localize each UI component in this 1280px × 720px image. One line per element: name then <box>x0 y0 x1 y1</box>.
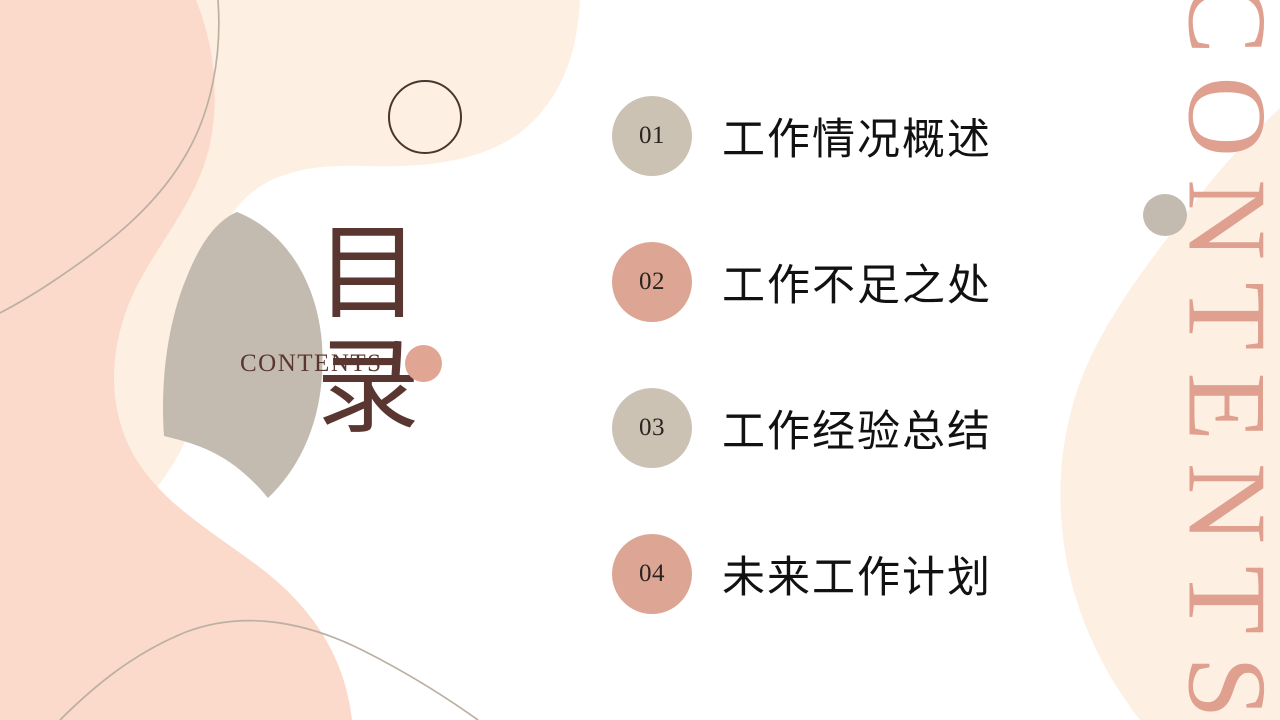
toc-number-04: 04 <box>639 560 665 588</box>
toc-list: 01 工作情况概述 02 工作不足之处 03 工作经验总结 04 未来工作计划 <box>612 96 992 614</box>
toc-number-badge-01: 01 <box>612 96 692 176</box>
page-title: 目 录 <box>268 222 468 442</box>
slide-root: CONTENTS 目 录 CONTENTS 01 工作情况概述 02 工作不足之… <box>0 0 1280 720</box>
toc-label-04: 未来工作计划 <box>722 543 992 605</box>
thin-curve-lower <box>60 621 478 720</box>
toc-item-01[interactable]: 01 工作情况概述 <box>612 96 992 176</box>
toc-label-02: 工作不足之处 <box>722 251 992 313</box>
toc-number-badge-04: 04 <box>612 534 692 614</box>
title-subtitle: CONTENTS <box>240 350 383 378</box>
toc-item-04[interactable]: 04 未来工作计划 <box>612 534 992 614</box>
thin-curve-upper <box>0 0 219 316</box>
side-contents-text: CONTENTS <box>1170 0 1280 720</box>
pink-dot-decor <box>405 345 442 382</box>
toc-label-03: 工作经验总结 <box>722 397 992 459</box>
toc-item-02[interactable]: 02 工作不足之处 <box>612 242 992 322</box>
cream-blob-right <box>1060 108 1280 720</box>
side-contents-watermark: CONTENTS <box>1166 0 1280 720</box>
taupe-dot-decor <box>1143 194 1187 236</box>
toc-number-01: 01 <box>639 122 665 150</box>
toc-number-02: 02 <box>639 268 665 296</box>
title-char-top: 目 <box>268 222 468 328</box>
outline-circle-decor <box>389 81 461 153</box>
toc-item-03[interactable]: 03 工作经验总结 <box>612 388 992 468</box>
toc-number-03: 03 <box>639 414 665 442</box>
title-subtitle-row: CONTENTS <box>240 345 442 382</box>
toc-number-badge-02: 02 <box>612 242 692 322</box>
toc-label-01: 工作情况概述 <box>722 105 992 167</box>
toc-number-badge-03: 03 <box>612 388 692 468</box>
